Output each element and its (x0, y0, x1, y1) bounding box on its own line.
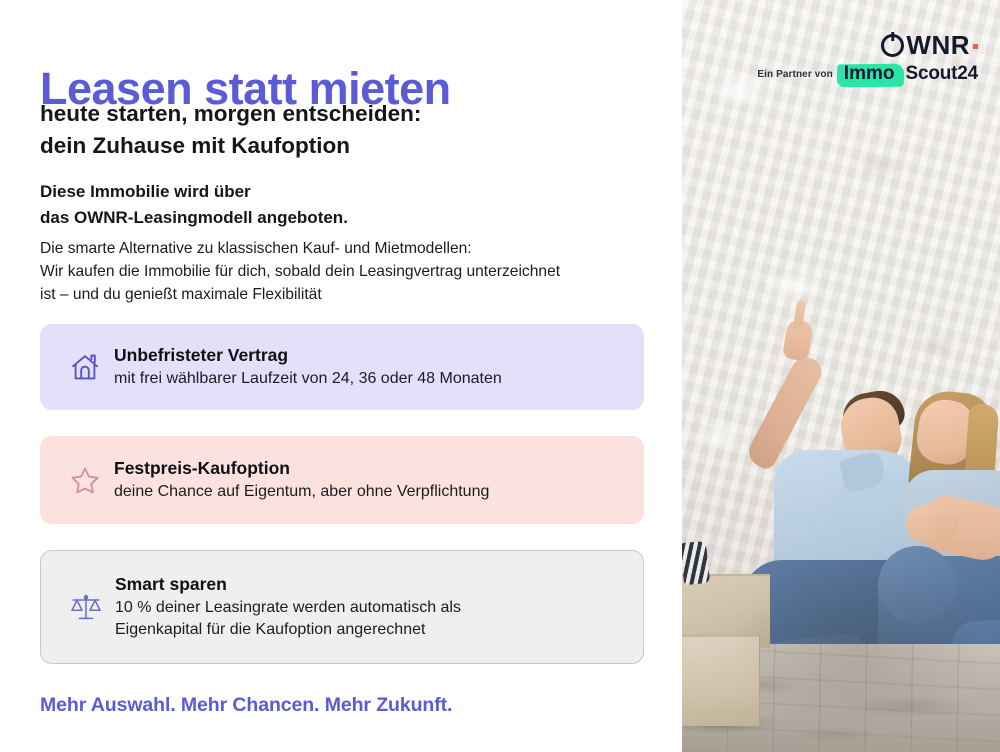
house-icon (58, 347, 112, 387)
ownr-accent-dot-icon (973, 44, 978, 49)
content-pane: Leasen statt mieten heute starten, morge… (0, 0, 682, 752)
photo-striped-cloth (682, 541, 710, 585)
feature-card-text: Unbefristeter Vertrag mit frei wählbarer… (112, 344, 626, 390)
photo-cardboard-box-front (682, 634, 760, 726)
lede-line-2: das OWNR-Leasingmodell angeboten. (40, 205, 348, 231)
immoscout-immo-text: Immo (839, 63, 900, 85)
leasing-flyer-page: Leasen statt mieten heute starten, morge… (0, 0, 1000, 752)
ownr-immoscout-logo: WNR Ein Partner von Immo Scout24 (757, 30, 978, 85)
feature-card-description-line-1: mit frei wählbarer Laufzeit von 24, 36 o… (114, 368, 626, 390)
body-line-3: ist – und du genießt maximale Flexibilit… (40, 284, 560, 307)
feature-card-description: deine Chance auf Eigentum, aber ohne Ver… (114, 481, 626, 503)
feature-card-title: Unbefristeter Vertrag (114, 344, 626, 366)
feature-card-description-line-2: Eigenkapital für die Kaufoption angerech… (115, 619, 625, 641)
body-line-1: Die smarte Alternative zu klassischen Ka… (40, 238, 560, 261)
page-subheadline: heute starten, morgen entscheiden: dein … (40, 98, 421, 162)
body-line-2: Wir kaufen die Immobilie für dich, sobal… (40, 261, 560, 284)
photo-woman-knee (878, 546, 956, 624)
ownr-wordmark-text: WNR (906, 30, 970, 61)
feature-card-text: Smart sparen 10 % deiner Leasingrate wer… (113, 573, 625, 642)
scales-icon (59, 587, 113, 627)
feature-card-fixed-price: Festpreis-Kaufoption deine Chance auf Ei… (40, 436, 644, 524)
ownr-o-icon (881, 34, 904, 57)
ownr-wordmark: WNR (881, 30, 978, 61)
feature-card-title: Smart sparen (115, 573, 625, 595)
lede-line-1: Diese Immobilie wird über (40, 179, 348, 205)
footer-tagline: Mehr Auswahl. Mehr Chancen. Mehr Zukunft… (40, 694, 452, 717)
immoscout-scout-text: Scout24 (905, 63, 978, 85)
feature-card-title: Festpreis-Kaufoption (114, 457, 626, 479)
star-icon (58, 460, 112, 500)
subheadline-line-1: heute starten, morgen entscheiden: (40, 98, 421, 130)
lede-paragraph: Diese Immobilie wird über das OWNR-Leasi… (40, 179, 348, 231)
feature-card-description-line-1: 10 % deiner Leasingrate werden automatis… (115, 597, 625, 619)
subheadline-line-2: dein Zuhause mit Kaufoption (40, 130, 421, 162)
logo-brand-row: WNR (757, 30, 978, 61)
feature-card-description-line-1: deine Chance auf Eigentum, aber ohne Ver… (114, 481, 626, 503)
feature-card-text: Festpreis-Kaufoption deine Chance auf Ei… (112, 457, 626, 503)
logo-partner-row: Ein Partner von Immo Scout24 (757, 63, 978, 85)
hero-photo: WNR Ein Partner von Immo Scout24 (682, 0, 1000, 752)
body-paragraph: Die smarte Alternative zu klassischen Ka… (40, 238, 560, 307)
feature-card-description: mit frei wählbarer Laufzeit von 24, 36 o… (114, 368, 626, 390)
feature-card-contract: Unbefristeter Vertrag mit frei wählbarer… (40, 324, 644, 410)
feature-card-list: Unbefristeter Vertrag mit frei wählbarer… (40, 324, 644, 690)
feature-card-description: 10 % deiner Leasingrate werden automatis… (115, 597, 625, 641)
logo-partner-label: Ein Partner von (757, 69, 832, 80)
feature-card-smart-saving: Smart sparen 10 % deiner Leasingrate wer… (40, 550, 644, 664)
